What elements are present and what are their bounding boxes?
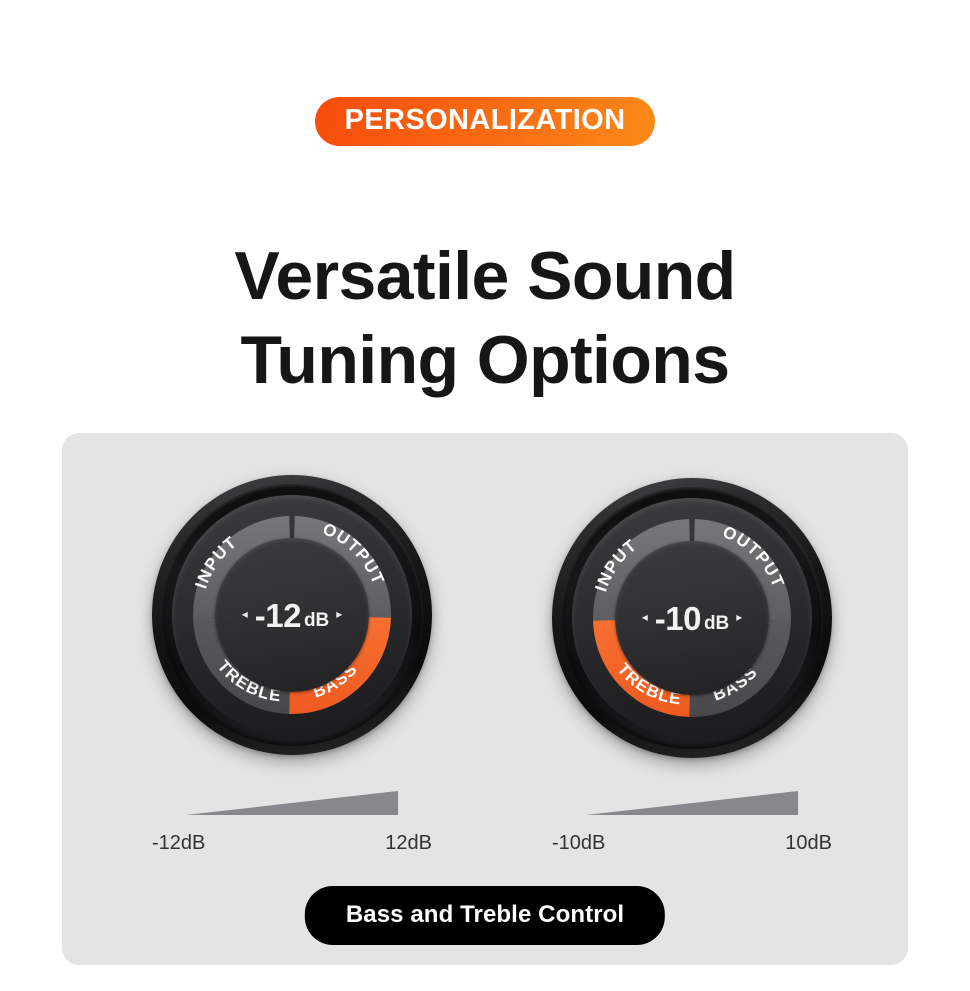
page-title: Versatile Sound Tuning Options	[0, 234, 970, 403]
treble-range-slider[interactable]: -10dB 10dB	[550, 783, 834, 853]
scale-min-label: -10dB	[552, 833, 605, 853]
bass-dial[interactable]: INPUT OUTPUT TREBLE BASS ◂ -12 dB ▸	[152, 475, 432, 755]
page-title-line-2: Tuning Options	[0, 318, 970, 402]
decrease-arrow-icon[interactable]: ◂	[242, 608, 248, 620]
bass-scale-labels: -12dB 12dB	[150, 833, 434, 853]
decrease-arrow-icon[interactable]: ◂	[642, 611, 648, 623]
caption-pill: Bass and Treble Control	[305, 886, 665, 945]
scale-min-label: -12dB	[152, 833, 205, 853]
bass-range-slider[interactable]: -12dB 12dB	[150, 783, 434, 853]
wedge-ramp-icon	[150, 783, 434, 819]
dial-readout: ◂ -12 dB ▸	[242, 599, 343, 632]
scale-max-label: 10dB	[785, 833, 832, 853]
personalization-badge: PERSONALIZATION	[315, 97, 656, 146]
scale-max-label: 12dB	[385, 833, 432, 853]
treble-dial[interactable]: INPUT OUTPUT TREBLE BASS ◂ -10 dB ▸	[552, 478, 832, 758]
sound-tuning-card: INPUT OUTPUT TREBLE BASS ◂ -12 dB ▸	[62, 433, 908, 965]
readout-value: -10	[655, 602, 701, 635]
increase-arrow-icon[interactable]: ▸	[336, 608, 342, 620]
page-title-line-1: Versatile Sound	[0, 234, 970, 318]
dial-readout-hub: ◂ -10 dB ▸	[615, 541, 769, 695]
badge-row: PERSONALIZATION	[0, 97, 970, 146]
dial-readout: ◂ -10 dB ▸	[642, 602, 743, 635]
treble-scale-labels: -10dB 10dB	[550, 833, 834, 853]
readout-unit: dB	[704, 614, 729, 633]
wedge-ramp-icon	[550, 783, 834, 819]
readout-unit: dB	[304, 611, 329, 630]
readout-value: -12	[255, 599, 301, 632]
increase-arrow-icon[interactable]: ▸	[736, 611, 742, 623]
dial-readout-hub: ◂ -12 dB ▸	[215, 538, 369, 692]
